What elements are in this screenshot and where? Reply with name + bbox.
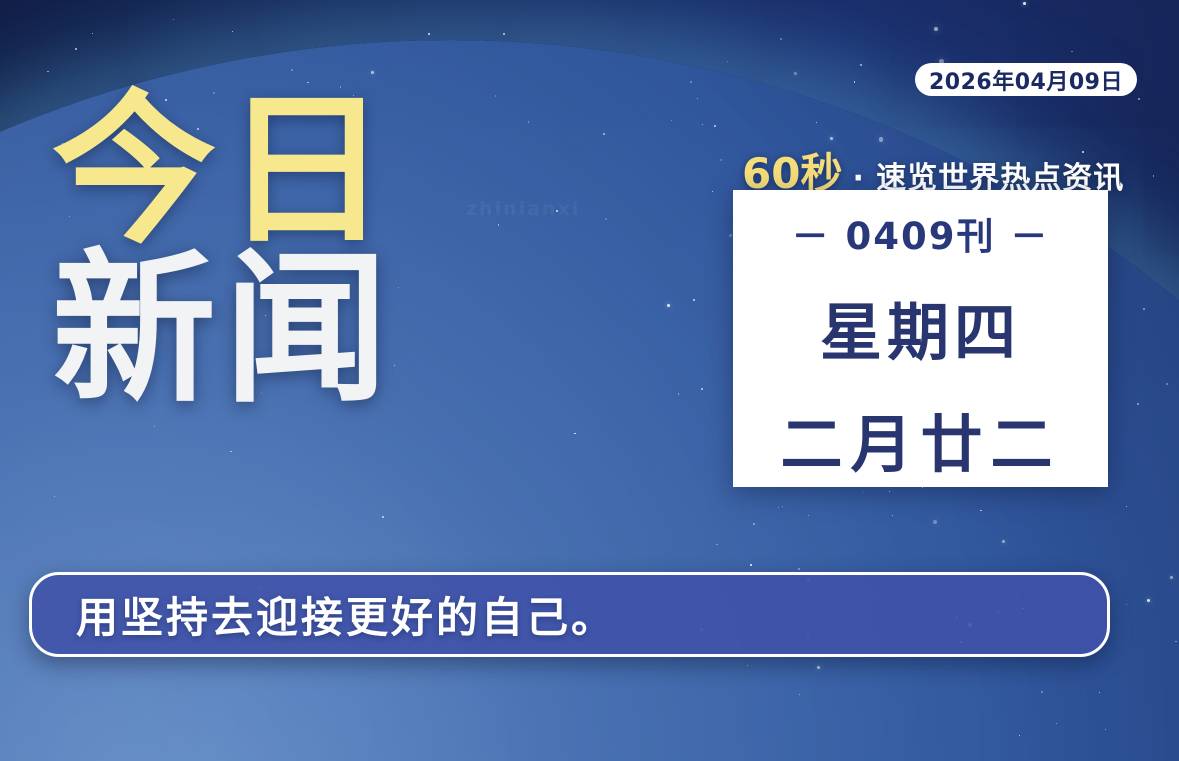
issue-number: － 0409刊 － [792,206,1050,260]
quote-bar: 用坚持去迎接更好的自己。 [29,572,1110,657]
headline-line-today: 今日 [52,96,482,247]
weekday-label: 星期四 [820,282,1021,372]
lunar-date-label: 二月廿二 [780,394,1060,484]
page-title: 今日 新闻 [52,96,482,406]
date-badge: 2026年04月09日 [915,63,1137,96]
info-card: － 0409刊 － 星期四 二月廿二 [733,190,1108,487]
background-watermark: zhinianxi [466,198,580,220]
headline-line-news: 新闻 [52,255,482,406]
quote-text: 用坚持去迎接更好的自己。 [76,584,616,645]
news-poster: zhinianxi 2026年04月09日 今日 新闻 60秒 · 速览世界热点… [0,0,1179,761]
